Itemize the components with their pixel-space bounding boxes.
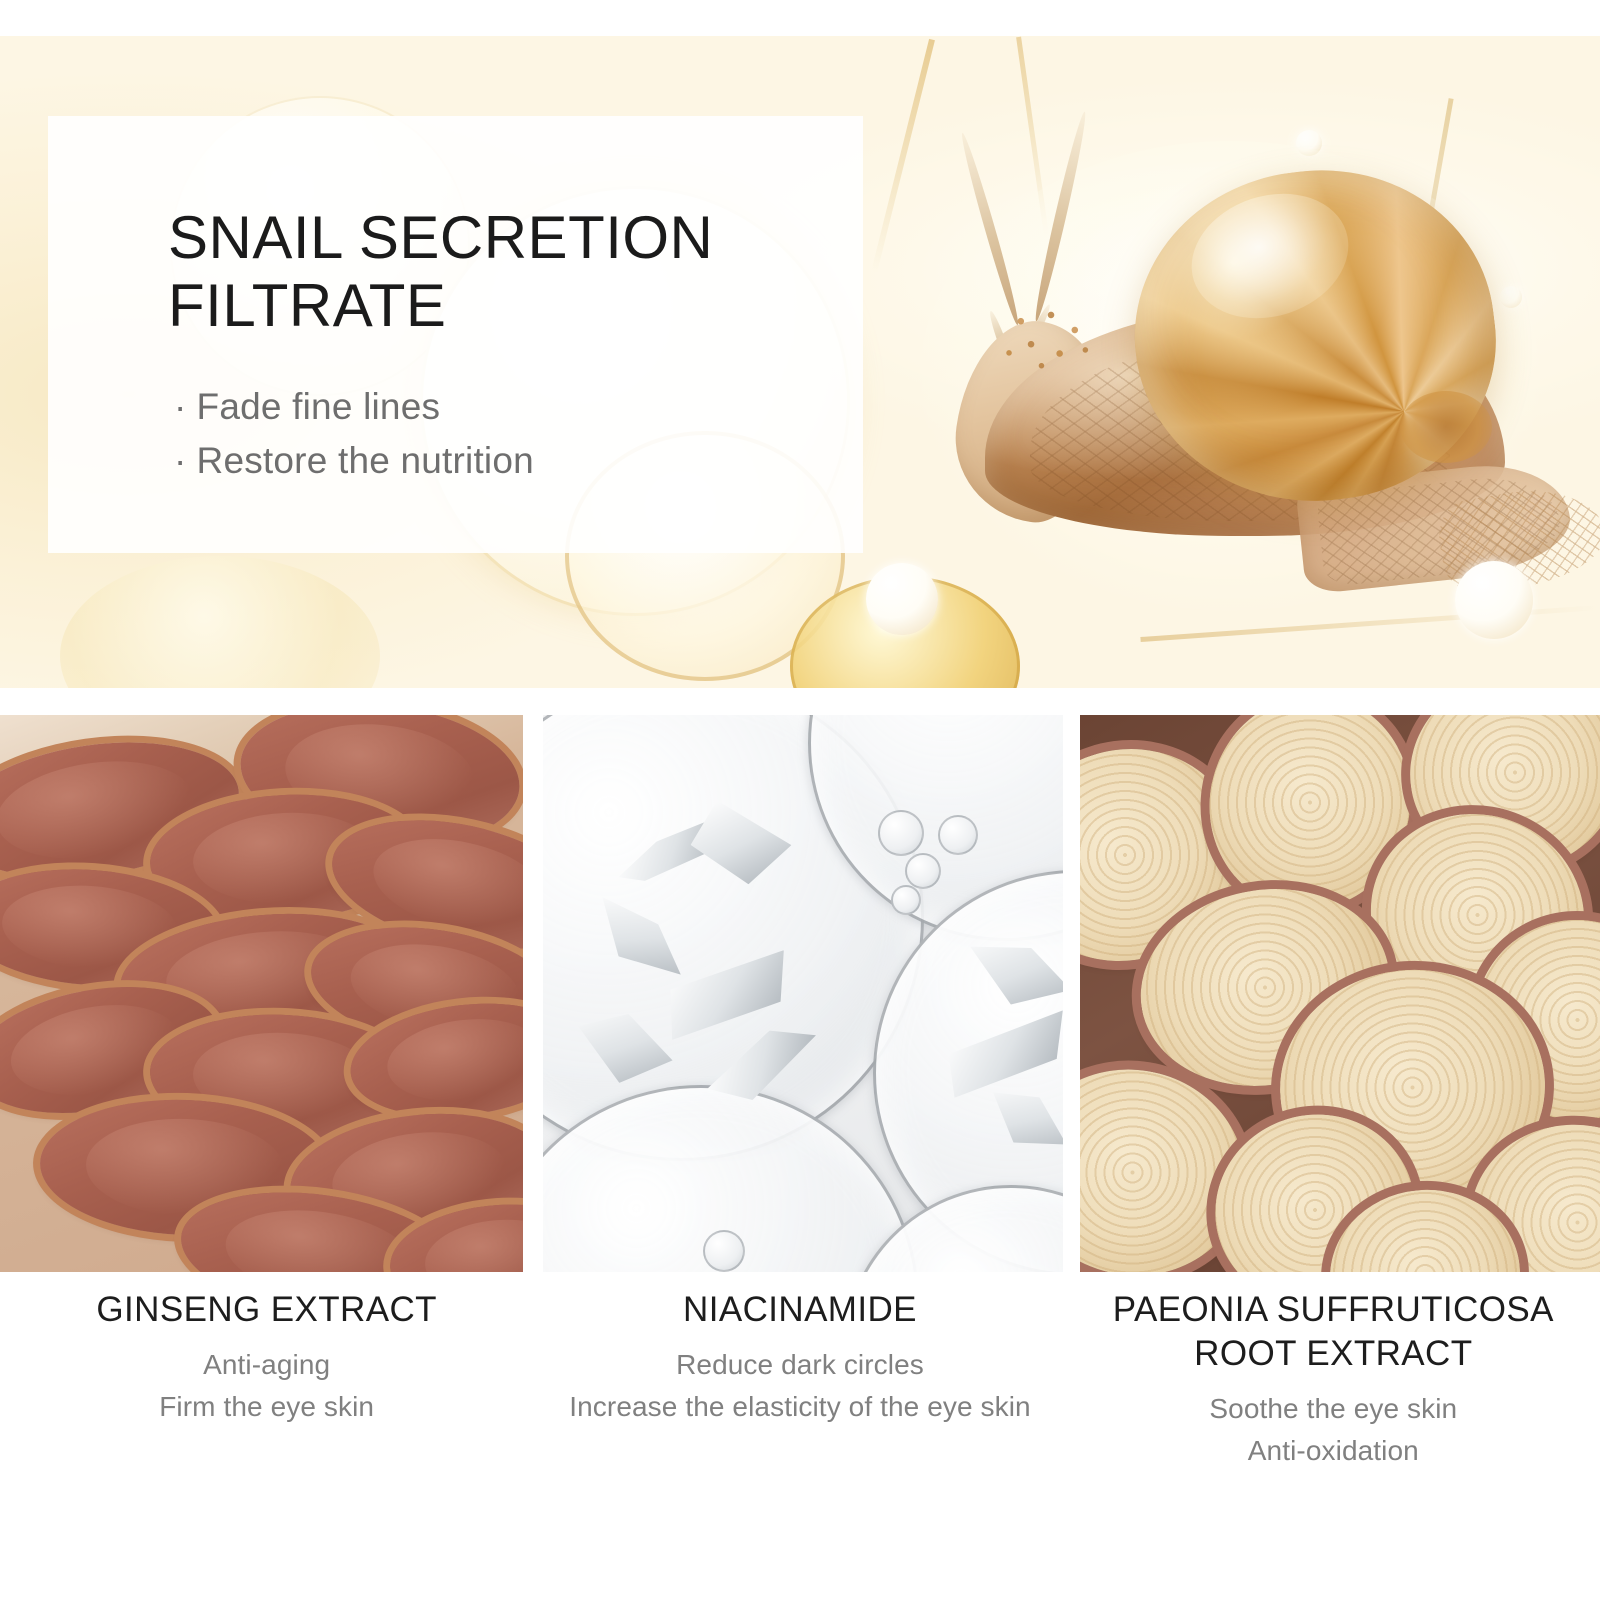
pearl-droplet [866,563,938,635]
hero-benefit-list: ·Fade fine lines ·Restore the nutrition [174,380,823,488]
ingredient-caption-ginseng: GINSENG EXTRACT Anti-aging Firm the eye … [0,1288,533,1548]
water-bead [938,815,978,855]
bullet-dot-icon: · [174,386,187,427]
ingredient-caption-paeonia: PAEONIA SUFFRUTICOSA ROOT EXTRACT Soothe… [1067,1288,1600,1548]
ingredient-benefit: Firm the eye skin [12,1386,521,1428]
pearl-droplet [1455,561,1533,639]
water-bead [891,885,921,915]
water-bead [905,853,941,889]
ingredient-benefit: Anti-oxidation [1079,1430,1588,1472]
hero-benefit-item: ·Fade fine lines [174,380,823,434]
ingredient-image-ginseng [0,715,523,1272]
snail-shell-spiral-core [1400,391,1492,463]
hero-benefit-label: Restore the nutrition [197,440,534,481]
water-bead [878,810,924,856]
water-bead [703,1230,745,1272]
oil-bubble [60,556,380,688]
ingredient-image-row [0,715,1600,1275]
ingredient-image-niacinamide [543,715,1063,1272]
hero-banner: SNAIL SECRETION FILTRATE ·Fade fine line… [0,36,1600,688]
hero-text-panel: SNAIL SECRETION FILTRATE ·Fade fine line… [48,116,863,553]
paeonia-root-photo [1080,715,1600,1272]
ingredient-image-paeonia [1080,715,1600,1272]
ingredient-title: NIACINAMIDE [545,1288,1054,1332]
hero-benefit-item: ·Restore the nutrition [174,434,823,488]
niacinamide-photo [543,715,1063,1272]
ginseng-photo [0,715,523,1272]
ingredient-caption-niacinamide: NIACINAMIDE Reduce dark circles Increase… [533,1288,1066,1548]
bullet-dot-icon: · [174,440,187,481]
ingredient-caption-row: GINSENG EXTRACT Anti-aging Firm the eye … [0,1288,1600,1548]
product-ingredient-infographic: SNAIL SECRETION FILTRATE ·Fade fine line… [0,0,1600,1600]
page-title: SNAIL SECRETION FILTRATE [168,204,823,340]
hero-benefit-label: Fade fine lines [197,386,441,427]
ingredient-benefit: Increase the elasticity of the eye skin [545,1386,1054,1428]
ingredient-benefit: Soothe the eye skin [1079,1388,1588,1430]
ingredient-benefit: Anti-aging [12,1344,521,1386]
ingredient-benefit: Reduce dark circles [545,1344,1054,1386]
ingredient-title: GINSENG EXTRACT [12,1288,521,1332]
ingredient-title: PAEONIA SUFFRUTICOSA ROOT EXTRACT [1079,1288,1588,1376]
